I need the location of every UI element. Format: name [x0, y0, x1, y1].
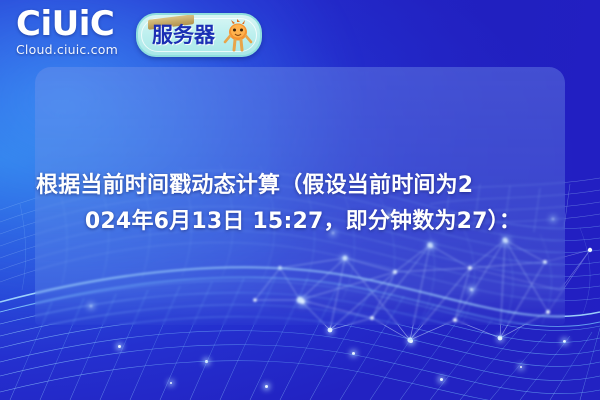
logo-domain: Cloud.ciuic.com — [16, 42, 140, 57]
title-line-2: 024年6月13日 15:27，即分钟数为27）： — [36, 204, 570, 240]
ciuic-logo[interactable]: CiUiC Cloud.ciuic.com — [16, 8, 140, 57]
logo-wordmark: CiUiC — [16, 8, 140, 40]
promo-banner: CiUiC Cloud.ciuic.com 服务器 — [0, 0, 600, 400]
title-line-1: 根据当前时间戳动态计算（假设当前时间为2 — [36, 168, 570, 204]
tiger-mascot-icon — [222, 19, 254, 52]
badge-label: 服务器 — [152, 22, 215, 48]
server-badge[interactable]: 服务器 — [136, 13, 262, 57]
banner-header: CiUiC Cloud.ciuic.com 服务器 — [0, 0, 600, 68]
page-title: 根据当前时间戳动态计算（假设当前时间为2 024年6月13日 15:27，即分钟… — [36, 168, 570, 240]
